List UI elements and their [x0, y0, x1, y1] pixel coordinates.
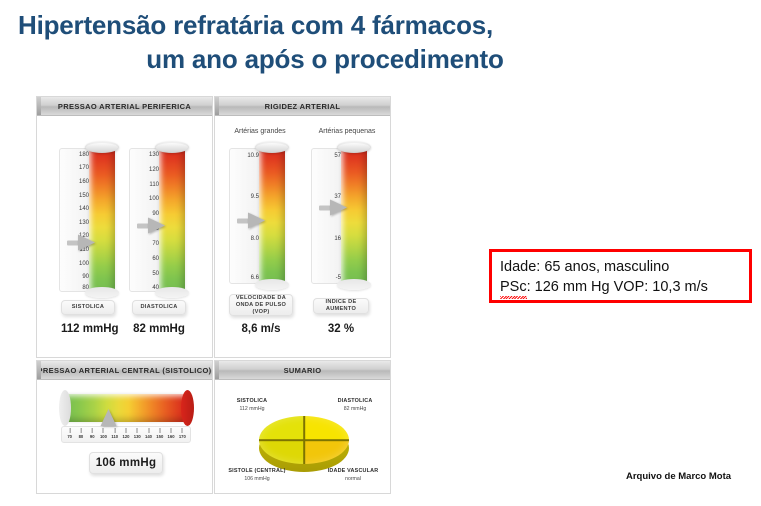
gauge-pwv: 10.9 9.5 8.0 6.6: [229, 148, 287, 284]
summary-label-central-systole: SISTOLE (CENTRAL) 106 mmHg: [217, 468, 297, 482]
tick: 100: [79, 261, 89, 267]
page-title-line-2: um ano após o procedimento: [0, 42, 640, 76]
gauge-central-scale: 70 80 90 100 110 120 130 140 150 160 170: [61, 426, 191, 443]
panel-peripheral-body: 180 170 160 150 140 130 120 110 100 90 8…: [37, 116, 212, 357]
panel-peripheral-pressure: PRESSAO ARTERIAL PERIFERICA 180 170 160 …: [36, 96, 213, 358]
callout-line-age: Idade: 65 anos, masculino: [500, 257, 741, 277]
value-central-pressure: 106 mmHg: [89, 452, 163, 474]
panel-central-header: PRESSAO ARTERIAL CENTRAL (SISTOLICO): [37, 361, 212, 380]
value-augmentation: 32 %: [313, 323, 369, 335]
gauge-augmentation-pointer: [319, 199, 347, 216]
tick: 140: [79, 206, 89, 212]
panel-summary: SUMARIO SISTOLICA 112 mmHg DIASTOLICA 82…: [214, 360, 391, 494]
gauge-pwv-cap: [256, 143, 288, 152]
tick: 70: [67, 428, 72, 439]
page-title: Hipertensão refratária com 4 fármacos, u…: [0, 8, 640, 76]
gauge-systolic-pointer: [67, 235, 95, 252]
spellcheck-underline-psc: PSc: [500, 277, 527, 297]
tick: 110: [149, 182, 159, 188]
image-credit: Arquivo de Marco Mota: [626, 471, 731, 482]
panel-arterial-stiffness: RIGIDEZ ARTERIAL Artérias grandes Artéri…: [214, 96, 391, 358]
gauge-augmentation-cap: [338, 143, 370, 152]
tick: 130: [79, 220, 89, 226]
panel-central-pressure: PRESSAO ARTERIAL CENTRAL (SISTOLICO) 70 …: [36, 360, 213, 494]
tick: 8.0: [251, 236, 259, 242]
tick: 170: [79, 165, 89, 171]
panel-central-title: PRESSAO ARTERIAL CENTRAL (SISTOLICO): [38, 366, 212, 375]
gauge-diastolic-cap: [156, 143, 188, 152]
gauge-diastolic-pointer: [137, 217, 165, 234]
tick: 70: [152, 241, 159, 247]
panel-stiffness-title: RIGIDEZ ARTERIAL: [265, 102, 341, 111]
panel-summary-header: SUMARIO: [215, 361, 390, 380]
summary-label-diastolic: DIASTOLICA 82 mmHg: [323, 398, 387, 412]
tick: 120: [123, 428, 130, 439]
gauge-systolic: 180 170 160 150 140 130 120 110 100 90 8…: [59, 148, 117, 292]
summary-pie-top: [259, 416, 349, 464]
label-small-arteries: Artérias pequenas: [305, 128, 389, 135]
tick: 130: [149, 152, 159, 158]
chip-pwv-label: VELOCIDADE DA ONDA DE PULSO (VOP): [229, 294, 293, 316]
tick: 16: [334, 236, 341, 242]
tick: 100: [149, 196, 159, 202]
panel-peripheral-title: PRESSAO ARTERIAL PERIFERICA: [58, 102, 191, 111]
tick: 9.5: [251, 194, 259, 200]
tick: 90: [82, 274, 89, 280]
panel-stiffness-body: Artérias grandes Artérias pequenas 10.9 …: [215, 116, 390, 357]
tick: 150: [79, 193, 89, 199]
gauge-systolic-cap: [86, 143, 118, 152]
summary-pie-chart: [259, 416, 349, 472]
panel-stiffness-header: RIGIDEZ ARTERIAL: [215, 97, 390, 116]
tick: 120: [149, 167, 159, 173]
page-title-line-1: Hipertensão refratária com 4 fármacos,: [0, 8, 640, 42]
panel-central-body: 70 80 90 100 110 120 130 140 150 160 170…: [37, 380, 212, 493]
tick: 6.6: [251, 275, 259, 281]
tick: 140: [145, 428, 152, 439]
panel-summary-body: SISTOLICA 112 mmHg DIASTOLICA 82 mmHg SI…: [215, 380, 390, 493]
patient-info-callout: Idade: 65 anos, masculino PSc: 126 mm Hg…: [489, 249, 752, 303]
gauge-pwv-pointer: [237, 213, 265, 230]
chip-systolic-label: SISTOLICA: [61, 300, 115, 315]
summary-label-systolic: SISTOLICA 112 mmHg: [219, 398, 285, 412]
tick: 57: [334, 153, 341, 159]
gauge-augmentation-index: 57 37 16 -5: [311, 148, 369, 284]
gauge-central-pointer: [101, 400, 118, 426]
tick: 160: [168, 428, 175, 439]
gauge-diastolic: 130 120 110 100 90 80 70 60 50 40: [129, 148, 187, 292]
callout-line-psc: PSc: 126 mm Hg VOP: 10,3 m/s: [500, 277, 741, 297]
tick: 80: [79, 428, 84, 439]
gauge-central-pressure: [65, 394, 187, 424]
tick: 180: [79, 152, 89, 158]
tick: 90: [90, 428, 95, 439]
value-pwv: 8,6 m/s: [229, 323, 293, 335]
tick: 170: [179, 428, 186, 439]
tick: 150: [156, 428, 163, 439]
gauge-systolic-tube: [89, 148, 115, 292]
chip-diastolic-label: DIASTOLICA: [132, 300, 186, 315]
tick: 50: [152, 271, 159, 277]
panel-summary-title: SUMARIO: [284, 366, 322, 375]
summary-label-vascular-age: IDADE VASCULAR normal: [317, 468, 389, 482]
panel-peripheral-header: PRESSAO ARTERIAL PERIFERICA: [37, 97, 212, 116]
tick: 110: [111, 428, 118, 439]
gauge-systolic-scale: 180 170 160 150 140 130 120 110 100 90 8…: [59, 148, 92, 292]
tick: 130: [134, 428, 141, 439]
report-card: PRESSAO ARTERIAL PERIFERICA 180 170 160 …: [36, 96, 391, 494]
callout-psc-rest: : 126 mm Hg VOP: 10,3 m/s: [527, 279, 708, 295]
chip-augmentation-label: INDICE DE AUMENTO: [313, 298, 369, 314]
tick: 10.9: [247, 153, 259, 159]
tick: 160: [79, 179, 89, 185]
tick: 60: [152, 256, 159, 262]
label-large-arteries: Artérias grandes: [221, 128, 299, 135]
value-diastolic: 82 mmHg: [132, 323, 186, 335]
tick: 100: [100, 428, 107, 439]
gauge-central-bar: [65, 394, 187, 422]
value-systolic: 112 mmHg: [61, 323, 115, 335]
